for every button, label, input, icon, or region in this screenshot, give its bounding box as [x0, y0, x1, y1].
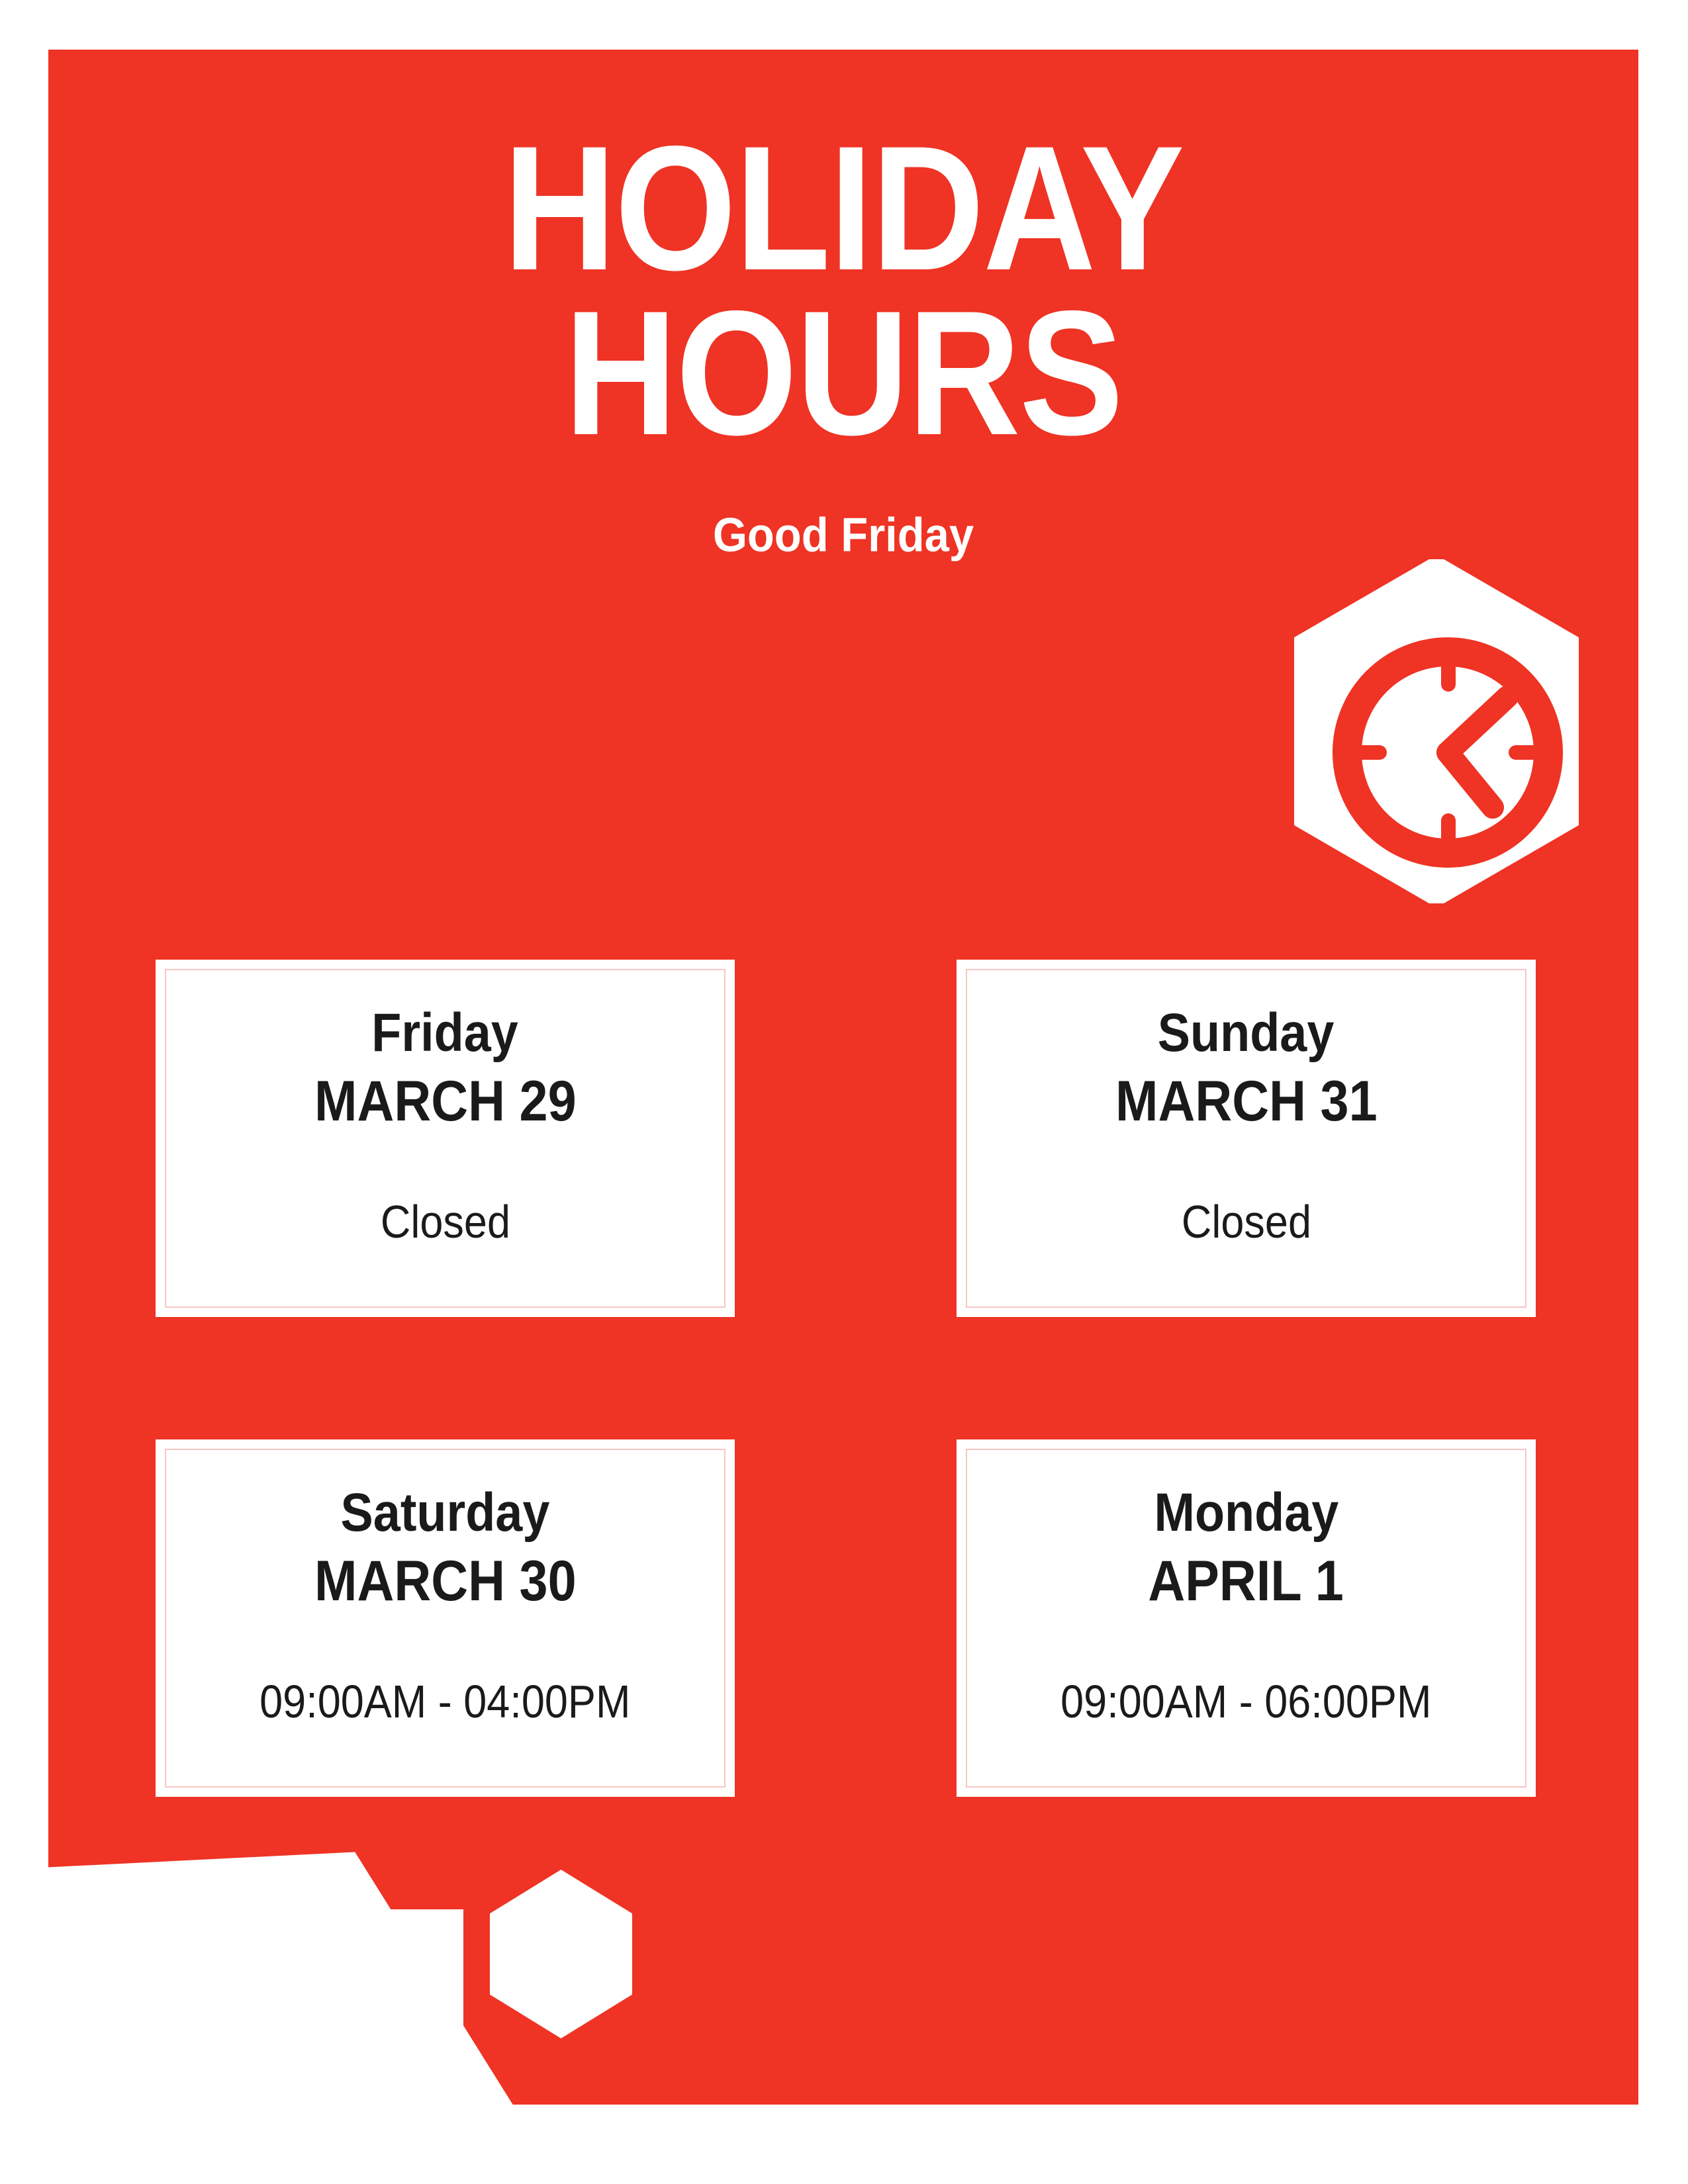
schedule-card-inner: Saturday MARCH 30 09:00AM - 04:00PM	[165, 1449, 726, 1788]
page-title-line-2: HOURS	[144, 291, 1543, 455]
page-title-line-1: HOLIDAY	[144, 126, 1543, 291]
clock-tick-6	[1441, 813, 1456, 845]
schedule-card-day: Friday	[372, 1005, 518, 1062]
poster-heading: HOLIDAY HOURS Good Friday	[48, 126, 1638, 563]
schedule-card-inner: Sunday MARCH 31 Closed	[966, 969, 1526, 1308]
schedule-card[interactable]: Friday MARCH 29 Closed	[156, 960, 735, 1317]
schedule-card-day: Saturday	[341, 1484, 550, 1541]
schedule-card-date: APRIL 1	[1149, 1551, 1344, 1612]
schedule-card[interactable]: Monday APRIL 1 09:00AM - 06:00PM	[957, 1439, 1536, 1797]
schedule-card[interactable]: Sunday MARCH 31 Closed	[957, 960, 1536, 1317]
schedule-card-grid: Friday MARCH 29 Closed Sunday MARCH 31 C…	[156, 960, 1536, 1797]
schedule-card-hours: Closed	[1181, 1199, 1311, 1245]
schedule-card-date: MARCH 29	[314, 1071, 577, 1132]
schedule-card-date: MARCH 31	[1115, 1071, 1378, 1132]
schedule-card-hours: 09:00AM - 04:00PM	[259, 1678, 630, 1725]
schedule-card-hours: 09:00AM - 06:00PM	[1060, 1678, 1431, 1725]
schedule-card-day: Monday	[1154, 1484, 1338, 1541]
holiday-hours-poster: HOLIDAY HOURS Good Friday Friday MARCH 2…	[0, 0, 1688, 2184]
schedule-card-day: Sunday	[1158, 1005, 1335, 1062]
clock-tick-12	[1441, 660, 1456, 692]
schedule-card-inner: Monday APRIL 1 09:00AM - 06:00PM	[966, 1449, 1526, 1788]
schedule-card[interactable]: Saturday MARCH 30 09:00AM - 04:00PM	[156, 1439, 735, 1797]
schedule-card-hours: Closed	[380, 1199, 510, 1245]
schedule-card-date: MARCH 30	[314, 1551, 577, 1612]
page-subtitle: Good Friday	[104, 455, 1583, 563]
schedule-card-inner: Friday MARCH 29 Closed	[165, 969, 726, 1308]
clock-tick-9	[1355, 745, 1387, 760]
clock-in-hexagon-icon	[1294, 559, 1579, 903]
clock-tick-3	[1509, 745, 1540, 760]
